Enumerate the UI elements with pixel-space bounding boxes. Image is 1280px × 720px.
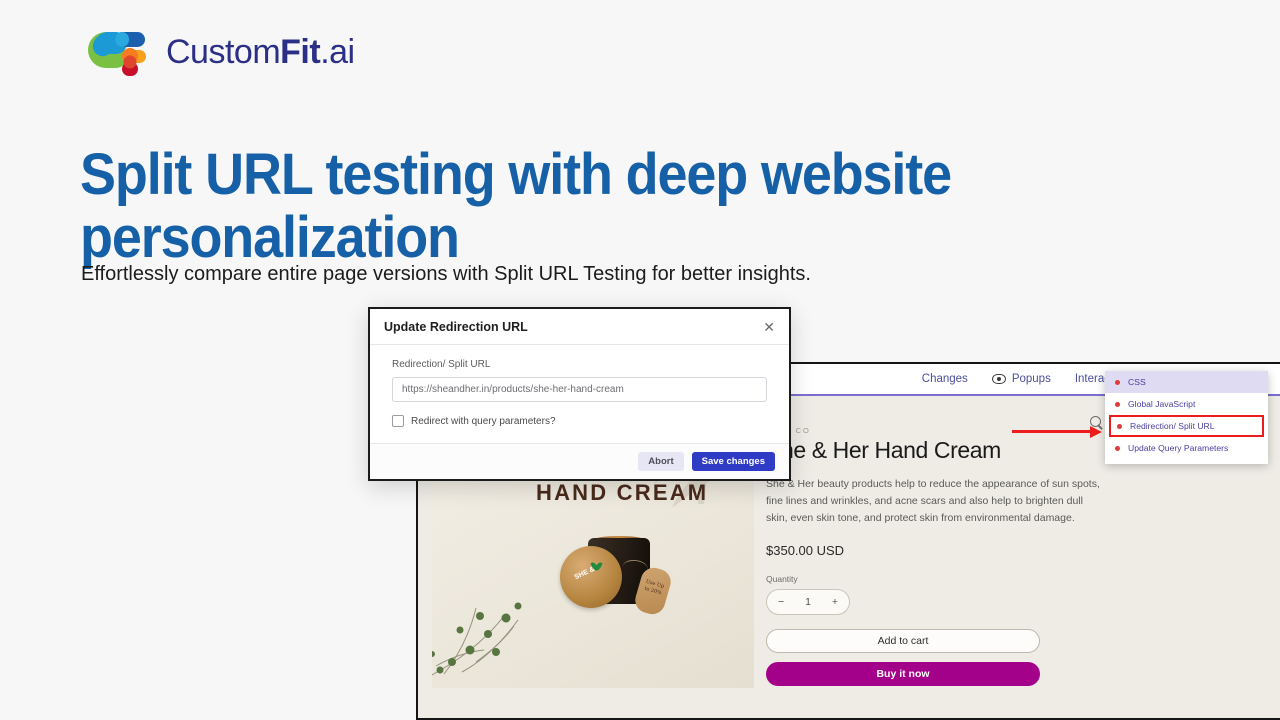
bullet-icon bbox=[1115, 380, 1120, 385]
page-subtitle: Effortlessly compare entire page version… bbox=[81, 260, 841, 289]
bullet-icon bbox=[1115, 402, 1120, 407]
modal-header: Update Redirection URL ✕ bbox=[370, 309, 789, 345]
toolbar-item-popups[interactable]: Popups bbox=[992, 373, 1051, 385]
query-parameters-label: Redirect with query parameters? bbox=[411, 416, 556, 427]
brand-logo[interactable]: CustomFit.ai bbox=[82, 26, 355, 78]
jar-lid: SHE & bbox=[560, 546, 622, 608]
changes-dropdown-menu[interactable]: CSS Global JavaScript Redirection/ Split… bbox=[1105, 371, 1268, 464]
bullet-icon bbox=[1117, 424, 1122, 429]
arrow-shaft bbox=[1012, 430, 1094, 433]
product-price: $350.00 USD bbox=[766, 543, 1254, 558]
update-redirection-url-modal: Update Redirection URL ✕ Redirection/ Sp… bbox=[368, 307, 791, 481]
dropdown-item-css[interactable]: CSS bbox=[1105, 371, 1268, 393]
dropdown-item-redirection-split-url[interactable]: Redirection/ Split URL bbox=[1109, 415, 1264, 437]
url-field-label: Redirection/ Split URL bbox=[392, 359, 767, 370]
query-parameters-checkbox[interactable] bbox=[392, 415, 404, 427]
modal-footer: Abort Save changes bbox=[370, 443, 789, 479]
quantity-increment-button[interactable]: + bbox=[832, 596, 838, 608]
save-changes-button[interactable]: Save changes bbox=[692, 452, 775, 471]
dropdown-item-label: Update Query Parameters bbox=[1128, 443, 1228, 453]
bullet-icon bbox=[1115, 446, 1120, 451]
brand-wordmark: CustomFit.ai bbox=[166, 33, 355, 72]
product-image-block-text: HAND CREAM bbox=[536, 480, 708, 506]
dropdown-item-global-javascript[interactable]: Global JavaScript bbox=[1105, 393, 1268, 415]
toolbar-changes-label: Changes bbox=[922, 373, 968, 385]
quantity-decrement-button[interactable]: − bbox=[778, 596, 784, 608]
product-description: She & Her beauty products help to reduce… bbox=[766, 476, 1102, 527]
dropdown-item-update-query-parameters[interactable]: Update Query Parameters bbox=[1105, 437, 1268, 459]
modal-body: Redirection/ Split URL Redirect with que… bbox=[370, 345, 789, 443]
dropdown-item-label: Redirection/ Split URL bbox=[1130, 421, 1215, 431]
buy-it-now-button[interactable]: Buy it now bbox=[766, 662, 1040, 686]
quantity-value[interactable]: 1 bbox=[805, 596, 811, 608]
logo-text-fit: Fit bbox=[280, 33, 320, 71]
quantity-label: Quantity bbox=[766, 574, 1254, 584]
jar-lid-label: SHE & bbox=[574, 566, 596, 581]
eye-icon bbox=[992, 374, 1006, 384]
modal-title: Update Redirection URL bbox=[384, 320, 528, 334]
arrow-head bbox=[1090, 426, 1102, 438]
botanical-decoration bbox=[432, 570, 566, 682]
page-title: Split URL testing with deep website pers… bbox=[80, 143, 1010, 269]
logo-text-ai: .ai bbox=[320, 33, 354, 71]
quantity-stepper[interactable]: − 1 + bbox=[766, 589, 850, 615]
toolbar-popups-label: Popups bbox=[1012, 373, 1051, 385]
toolbar-item-changes[interactable]: Changes bbox=[922, 373, 968, 385]
dropdown-item-label: Global JavaScript bbox=[1128, 399, 1195, 409]
add-to-cart-button[interactable]: Add to cart bbox=[766, 629, 1040, 653]
hang-tag-label: Use Up to 20% bbox=[641, 578, 666, 598]
query-parameters-checkbox-row[interactable]: Redirect with query parameters? bbox=[392, 415, 767, 427]
product-jar-illustration: Use Up to 20% SHE & bbox=[560, 532, 656, 606]
redirection-url-input[interactable] bbox=[392, 377, 767, 402]
logo-text-custom: Custom bbox=[166, 33, 280, 71]
dropdown-item-label: CSS bbox=[1128, 377, 1146, 387]
annotation-arrow-icon bbox=[1012, 426, 1108, 438]
customfit-cf-mark-icon bbox=[82, 26, 156, 78]
abort-button[interactable]: Abort bbox=[638, 452, 683, 471]
close-icon[interactable]: ✕ bbox=[763, 320, 775, 334]
